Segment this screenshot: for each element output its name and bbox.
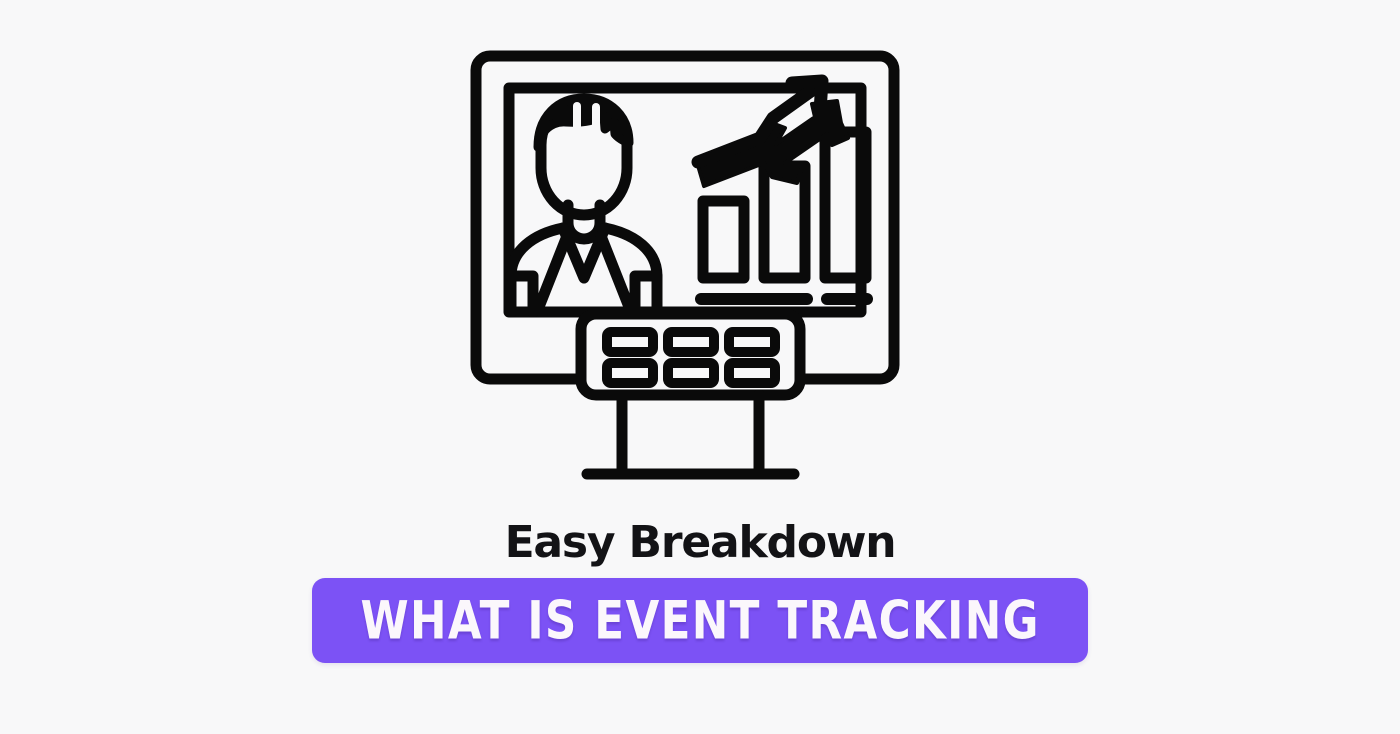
person-icon — [511, 98, 657, 312]
easy-breakdown-card: Easy Breakdown What Is Event Tracking — [0, 0, 1400, 734]
illustration-container — [0, 0, 1400, 500]
topic-badge-label: What Is Event Tracking — [360, 594, 1039, 646]
stand-icon — [587, 395, 794, 474]
presenter-monitor-illustration — [470, 50, 930, 495]
badge-container: What Is Event Tracking — [0, 578, 1400, 663]
page-title: Easy Breakdown — [0, 511, 1400, 575]
keyboard-icon — [581, 314, 800, 395]
topic-badge[interactable]: What Is Event Tracking — [312, 578, 1088, 663]
